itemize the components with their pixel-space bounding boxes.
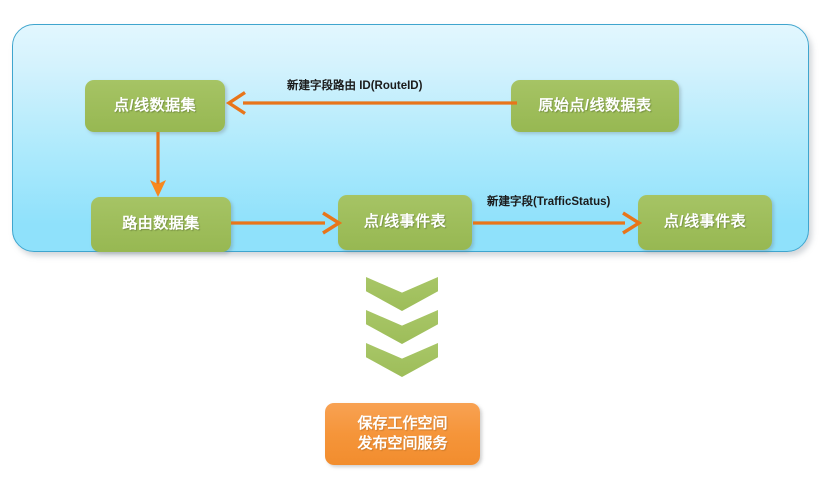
node-route-dataset[interactable]: 路由数据集 xyxy=(91,197,231,252)
terminal-label-line1: 保存工作空间 xyxy=(357,414,447,434)
diagram-canvas: 点/线数据集 原始点/线数据表 路由数据集 点/线事件表 点/线事件表 xyxy=(0,0,827,479)
connector-event-to-event xyxy=(473,211,641,235)
flow-down-chevrons xyxy=(366,277,442,379)
node-save-and-publish[interactable]: 保存工作空间 发布空间服务 xyxy=(325,403,480,465)
chevron-down-icon xyxy=(366,277,438,311)
connector-dataset-to-route xyxy=(143,132,173,198)
node-label: 路由数据集 xyxy=(122,215,200,234)
node-label: 点/线事件表 xyxy=(364,213,446,232)
node-label: 原始点/线数据表 xyxy=(538,97,651,116)
node-event-table-right[interactable]: 点/线事件表 xyxy=(638,195,772,250)
node-label: 点/线事件表 xyxy=(664,213,746,232)
node-event-table-middle[interactable]: 点/线事件表 xyxy=(338,195,472,250)
node-point-line-dataset[interactable]: 点/线数据集 xyxy=(85,80,225,132)
chevron-down-icon xyxy=(366,310,438,344)
node-source-table[interactable]: 原始点/线数据表 xyxy=(511,80,679,132)
connector-label-routeid: 新建字段路由 ID(RouteID) xyxy=(287,77,422,93)
connector-route-to-event xyxy=(231,211,341,235)
node-label: 点/线数据集 xyxy=(114,97,196,116)
chevron-down-icon xyxy=(366,343,438,377)
process-panel: 点/线数据集 原始点/线数据表 路由数据集 点/线事件表 点/线事件表 xyxy=(12,24,809,252)
terminal-label-line2: 发布空间服务 xyxy=(357,434,447,454)
connector-source-to-dataset xyxy=(225,91,517,115)
connector-label-trafficstatus: 新建字段(TrafficStatus) xyxy=(487,193,610,209)
